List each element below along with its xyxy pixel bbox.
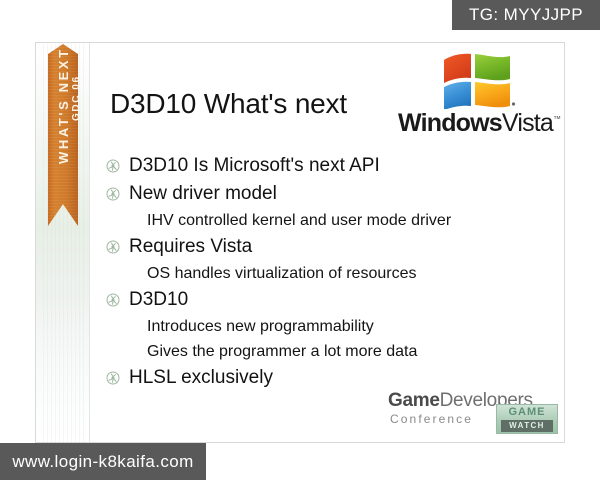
sub-list-item-label: Introduces new programmability — [147, 318, 374, 335]
sub-list-item-label: Gives the programmer a lot more data — [147, 343, 417, 360]
pinwheel-bullet-icon — [106, 159, 120, 173]
slide-content-area: D3D10 What's next — [96, 43, 564, 442]
list-item-label: HLSL exclusively — [129, 365, 273, 391]
game-watch-badge: GAME WATCH — [496, 404, 558, 434]
windows-vista-logo: WindowsVista™ — [398, 51, 550, 143]
sub-list-item-label: IHV controlled kernel and user mode driv… — [147, 212, 451, 229]
sub-list-item: Introduces new programmability — [147, 315, 556, 339]
whats-next-ribbon-banner: WHAT'S NEXT GDC 06 — [48, 44, 78, 226]
list-item: D3D10 Is Microsoft's next API — [106, 153, 556, 179]
presentation-slide: WHAT'S NEXT GDC 06 D3D10 What's next — [35, 42, 565, 443]
bullet-list: D3D10 Is Microsoft's next API New driver… — [106, 153, 556, 393]
vista-wordmark-windows: Windows — [398, 109, 502, 137]
list-item-label: D3D10 — [129, 287, 188, 313]
sub-list-item: OS handles virtualization of resources — [147, 262, 556, 286]
page-title: D3D10 What's next — [110, 88, 347, 120]
gdc-logo-conference: Conference — [390, 412, 473, 426]
list-item-label: New driver model — [129, 181, 277, 207]
sub-list-item-label: OS handles virtualization of resources — [147, 265, 416, 282]
game-watch-badge-top: GAME — [500, 406, 554, 419]
gdc-footer-logo: GameDevelopers Conference GAME WATCH — [388, 390, 556, 434]
list-item: D3D10 — [106, 287, 556, 313]
pinwheel-bullet-icon — [106, 240, 120, 254]
vista-wordmark-vista: Vista — [502, 109, 553, 137]
list-item-label: Requires Vista — [129, 234, 252, 260]
list-item: HLSL exclusively — [106, 365, 556, 391]
pinwheel-bullet-icon — [106, 293, 120, 307]
pinwheel-bullet-icon — [106, 187, 120, 201]
game-watch-badge-bottom: WATCH — [501, 420, 553, 432]
windows-flag-icon — [432, 51, 518, 109]
pinwheel-bullet-icon — [106, 371, 120, 385]
top-right-tag-watermark: TG: MYYJJPP — [452, 0, 600, 30]
sub-list-item: IHV controlled kernel and user mode driv… — [147, 209, 556, 233]
gdc-logo-game: Game — [388, 390, 440, 411]
list-item-label: D3D10 Is Microsoft's next API — [129, 153, 380, 179]
ribbon-title-text: WHAT'S NEXT — [56, 47, 71, 164]
bottom-url-watermark: www.login-k8kaifa.com — [0, 443, 206, 480]
list-item: New driver model — [106, 181, 556, 207]
sub-list-item: Gives the programmer a lot more data — [147, 340, 556, 364]
trademark-symbol: ™ — [553, 115, 560, 124]
list-item: Requires Vista — [106, 234, 556, 260]
vista-wordmark: WindowsVista™ — [398, 109, 550, 138]
